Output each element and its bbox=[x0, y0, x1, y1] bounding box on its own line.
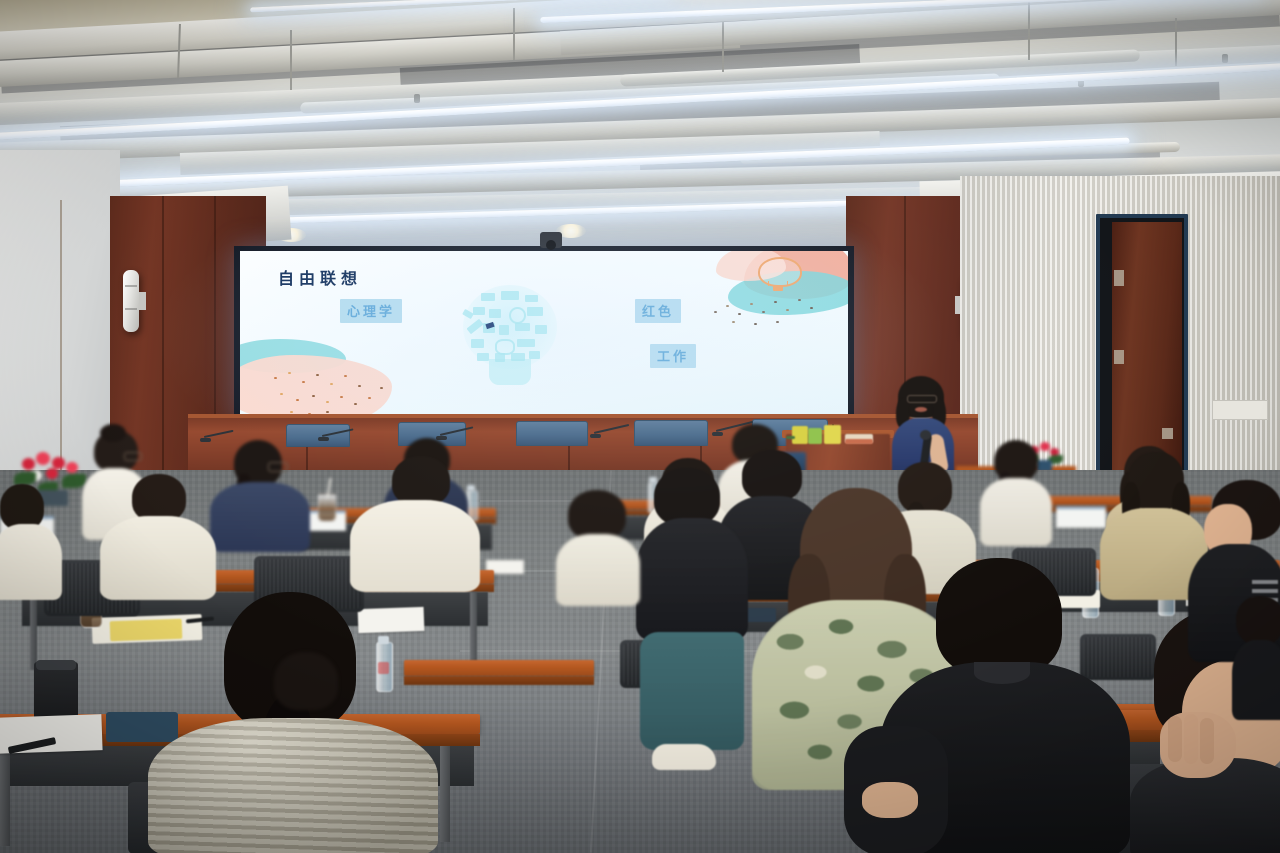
attendee-torso bbox=[0, 524, 62, 600]
slide-keyword-psychology: 心理学 bbox=[340, 299, 402, 323]
slide-title: 自由联想 bbox=[278, 265, 362, 289]
slide-keyword-red: 红色 bbox=[635, 299, 681, 323]
slide-keyword-work: 工作 bbox=[650, 344, 696, 368]
attendee-torso bbox=[636, 518, 748, 640]
attendee-shoulder-shadow bbox=[148, 718, 438, 853]
list-item bbox=[0, 484, 62, 594]
list-item bbox=[348, 456, 482, 592]
microphone-head-icon bbox=[920, 430, 931, 440]
head-table-chair[interactable] bbox=[634, 420, 708, 446]
list-item bbox=[100, 474, 216, 596]
attendee-torso bbox=[100, 516, 216, 600]
wall-speaker-left bbox=[123, 270, 139, 332]
attendee-hair bbox=[936, 558, 1062, 676]
attendee-glasses-icon bbox=[268, 462, 288, 472]
name-card bbox=[1056, 506, 1106, 528]
list-item bbox=[264, 652, 350, 726]
presenter-glasses-icon bbox=[907, 395, 937, 403]
list-item bbox=[636, 468, 756, 798]
list-item bbox=[978, 440, 1056, 546]
attendee-torso bbox=[210, 482, 310, 552]
list-item bbox=[556, 490, 642, 602]
wall-vent bbox=[1212, 400, 1268, 420]
attendee-hair-bun bbox=[100, 424, 126, 442]
sprinkler-head bbox=[414, 94, 420, 103]
attendee-finger bbox=[1168, 716, 1182, 762]
list-item bbox=[1236, 596, 1280, 716]
attendee-finger bbox=[1200, 718, 1214, 764]
attendee-torso bbox=[980, 478, 1052, 546]
sprinkler-head bbox=[1222, 54, 1228, 63]
gooseneck-microphone bbox=[318, 437, 329, 441]
tumbler-lid bbox=[36, 660, 76, 670]
podium-books bbox=[845, 439, 873, 444]
attendee-torso bbox=[1232, 640, 1280, 720]
projection-screen: 自由联想 心理学 红色 工作 bbox=[240, 251, 848, 417]
attendee-finger bbox=[1184, 714, 1198, 764]
attendee-torso bbox=[556, 534, 640, 606]
lecture-room-photo: 自由联想 心理学 红色 工作 bbox=[0, 0, 1280, 853]
podium-item-green bbox=[808, 428, 822, 444]
attendee-torso bbox=[350, 500, 480, 592]
attendee-legs bbox=[640, 632, 744, 750]
camera-lens-icon bbox=[546, 240, 556, 250]
podium-item-yellow bbox=[824, 425, 841, 444]
gooseneck-microphone bbox=[590, 434, 601, 438]
iced-coffee-cup bbox=[318, 494, 336, 522]
speaker-bracket bbox=[139, 292, 146, 310]
attendee-shoe bbox=[652, 744, 716, 770]
attendee-hair bbox=[1236, 596, 1280, 646]
hot-air-balloon-graphic bbox=[756, 257, 800, 297]
attendee-hair bbox=[568, 490, 626, 540]
side-entry-door[interactable] bbox=[1112, 222, 1182, 484]
attendee-glasses-icon bbox=[124, 452, 142, 461]
presenter-mouth bbox=[915, 407, 927, 412]
idea-lightbulb-graphic bbox=[455, 285, 565, 389]
list-item bbox=[880, 558, 1130, 853]
attendee-hand bbox=[862, 782, 918, 818]
attendee-hair bbox=[132, 474, 186, 522]
attendee-hair bbox=[392, 456, 450, 506]
list-item bbox=[206, 440, 316, 550]
attendee-collar bbox=[974, 662, 1030, 684]
head-table-chair[interactable] bbox=[516, 421, 588, 446]
attendee-hair bbox=[274, 652, 338, 710]
